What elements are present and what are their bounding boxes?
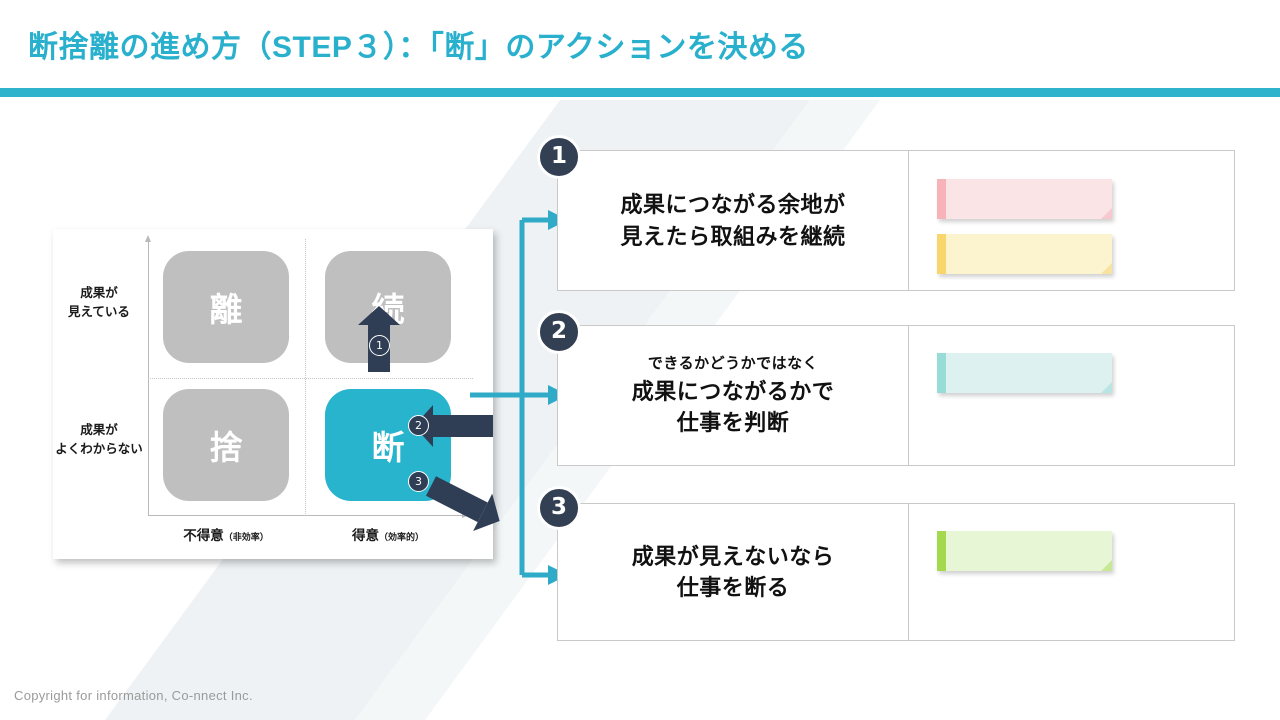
- matrix-vertical-gridline: [305, 239, 306, 516]
- step-card-1[interactable]: 成果につながる余地が 見えたら取組みを継続: [557, 150, 1235, 291]
- matrix-horizontal-gridline: [148, 378, 473, 379]
- step-card-3-text: 成果が見えないなら 仕事を断る: [558, 504, 909, 640]
- matrix-step-marker-2: 2: [408, 415, 429, 436]
- title-underline-bar: [0, 88, 1280, 97]
- step-card-1-text: 成果につながる余地が 見えたら取組みを継続: [558, 151, 909, 290]
- step-card-1-line-2: 見えたら取組みを継続: [620, 221, 845, 252]
- step-card-3[interactable]: 成果が見えないなら 仕事を断る: [557, 503, 1235, 641]
- step-card-2-line-small: できるかどうかではなく: [648, 353, 818, 376]
- matrix-x-label-left-sub: （非効率）: [224, 532, 269, 542]
- matrix-y-label-top-line2: 見えている: [53, 303, 145, 322]
- matrix-x-label-right: 得意（効率的）: [325, 524, 451, 544]
- step-card-1-line-1: 成果につながる余地が: [620, 189, 845, 220]
- matrix-quadrant-ri: 離: [163, 251, 289, 363]
- step-card-2-text: できるかどうかではなく 成果につながるかで 仕事を判断: [558, 326, 909, 465]
- sticky-note-pink: [937, 179, 1112, 219]
- step-card-3-note-area: [909, 504, 1234, 640]
- matrix-x-label-left-main: 不得意: [183, 528, 224, 543]
- sticky-note-yellow: [937, 234, 1112, 274]
- step-card-2-note-area: [909, 326, 1234, 465]
- step-badge-3: 3: [538, 487, 580, 529]
- step-badge-2: 2: [538, 311, 580, 353]
- matrix-step-marker-1: 1: [369, 335, 390, 356]
- matrix-x-label-right-main: 得意: [352, 528, 379, 543]
- step-card-3-line-2: 仕事を断る: [677, 572, 790, 603]
- matrix-diagram-panel: 離 続 捨 断 成果が 見えている 成果が よくわからない 不得意（非効率） 得…: [53, 229, 493, 559]
- matrix-y-label-top-line1: 成果が: [53, 284, 145, 303]
- matrix-y-label-bottom-line2: よくわからない: [49, 440, 149, 459]
- matrix-x-label-right-sub: （効率的）: [379, 532, 424, 542]
- step-card-3-line-1: 成果が見えないなら: [632, 541, 835, 572]
- sticky-note-green: [937, 531, 1112, 571]
- matrix-y-label-bottom: 成果が よくわからない: [49, 421, 149, 459]
- matrix-quadrant-sha: 捨: [163, 389, 289, 501]
- sticky-note-teal: [937, 353, 1112, 393]
- step-card-2[interactable]: できるかどうかではなく 成果につながるかで 仕事を判断: [557, 325, 1235, 466]
- matrix-y-label-bottom-line1: 成果が: [49, 421, 149, 440]
- matrix-y-label-top: 成果が 見えている: [53, 284, 145, 322]
- page-title: 断捨離の進め方（STEP３）：「断」のアクションを決める: [28, 22, 809, 66]
- step-badge-1: 1: [538, 136, 580, 178]
- step-card-2-line-2: 仕事を判断: [677, 407, 790, 438]
- matrix-x-label-left: 不得意（非効率）: [163, 524, 289, 544]
- matrix-step-marker-3: 3: [408, 471, 429, 492]
- step-card-2-line-1: 成果につながるかで: [632, 376, 835, 407]
- step-card-1-note-area: [909, 151, 1234, 290]
- footer-copyright: Copyright for information, Co-nnect Inc.: [14, 688, 253, 703]
